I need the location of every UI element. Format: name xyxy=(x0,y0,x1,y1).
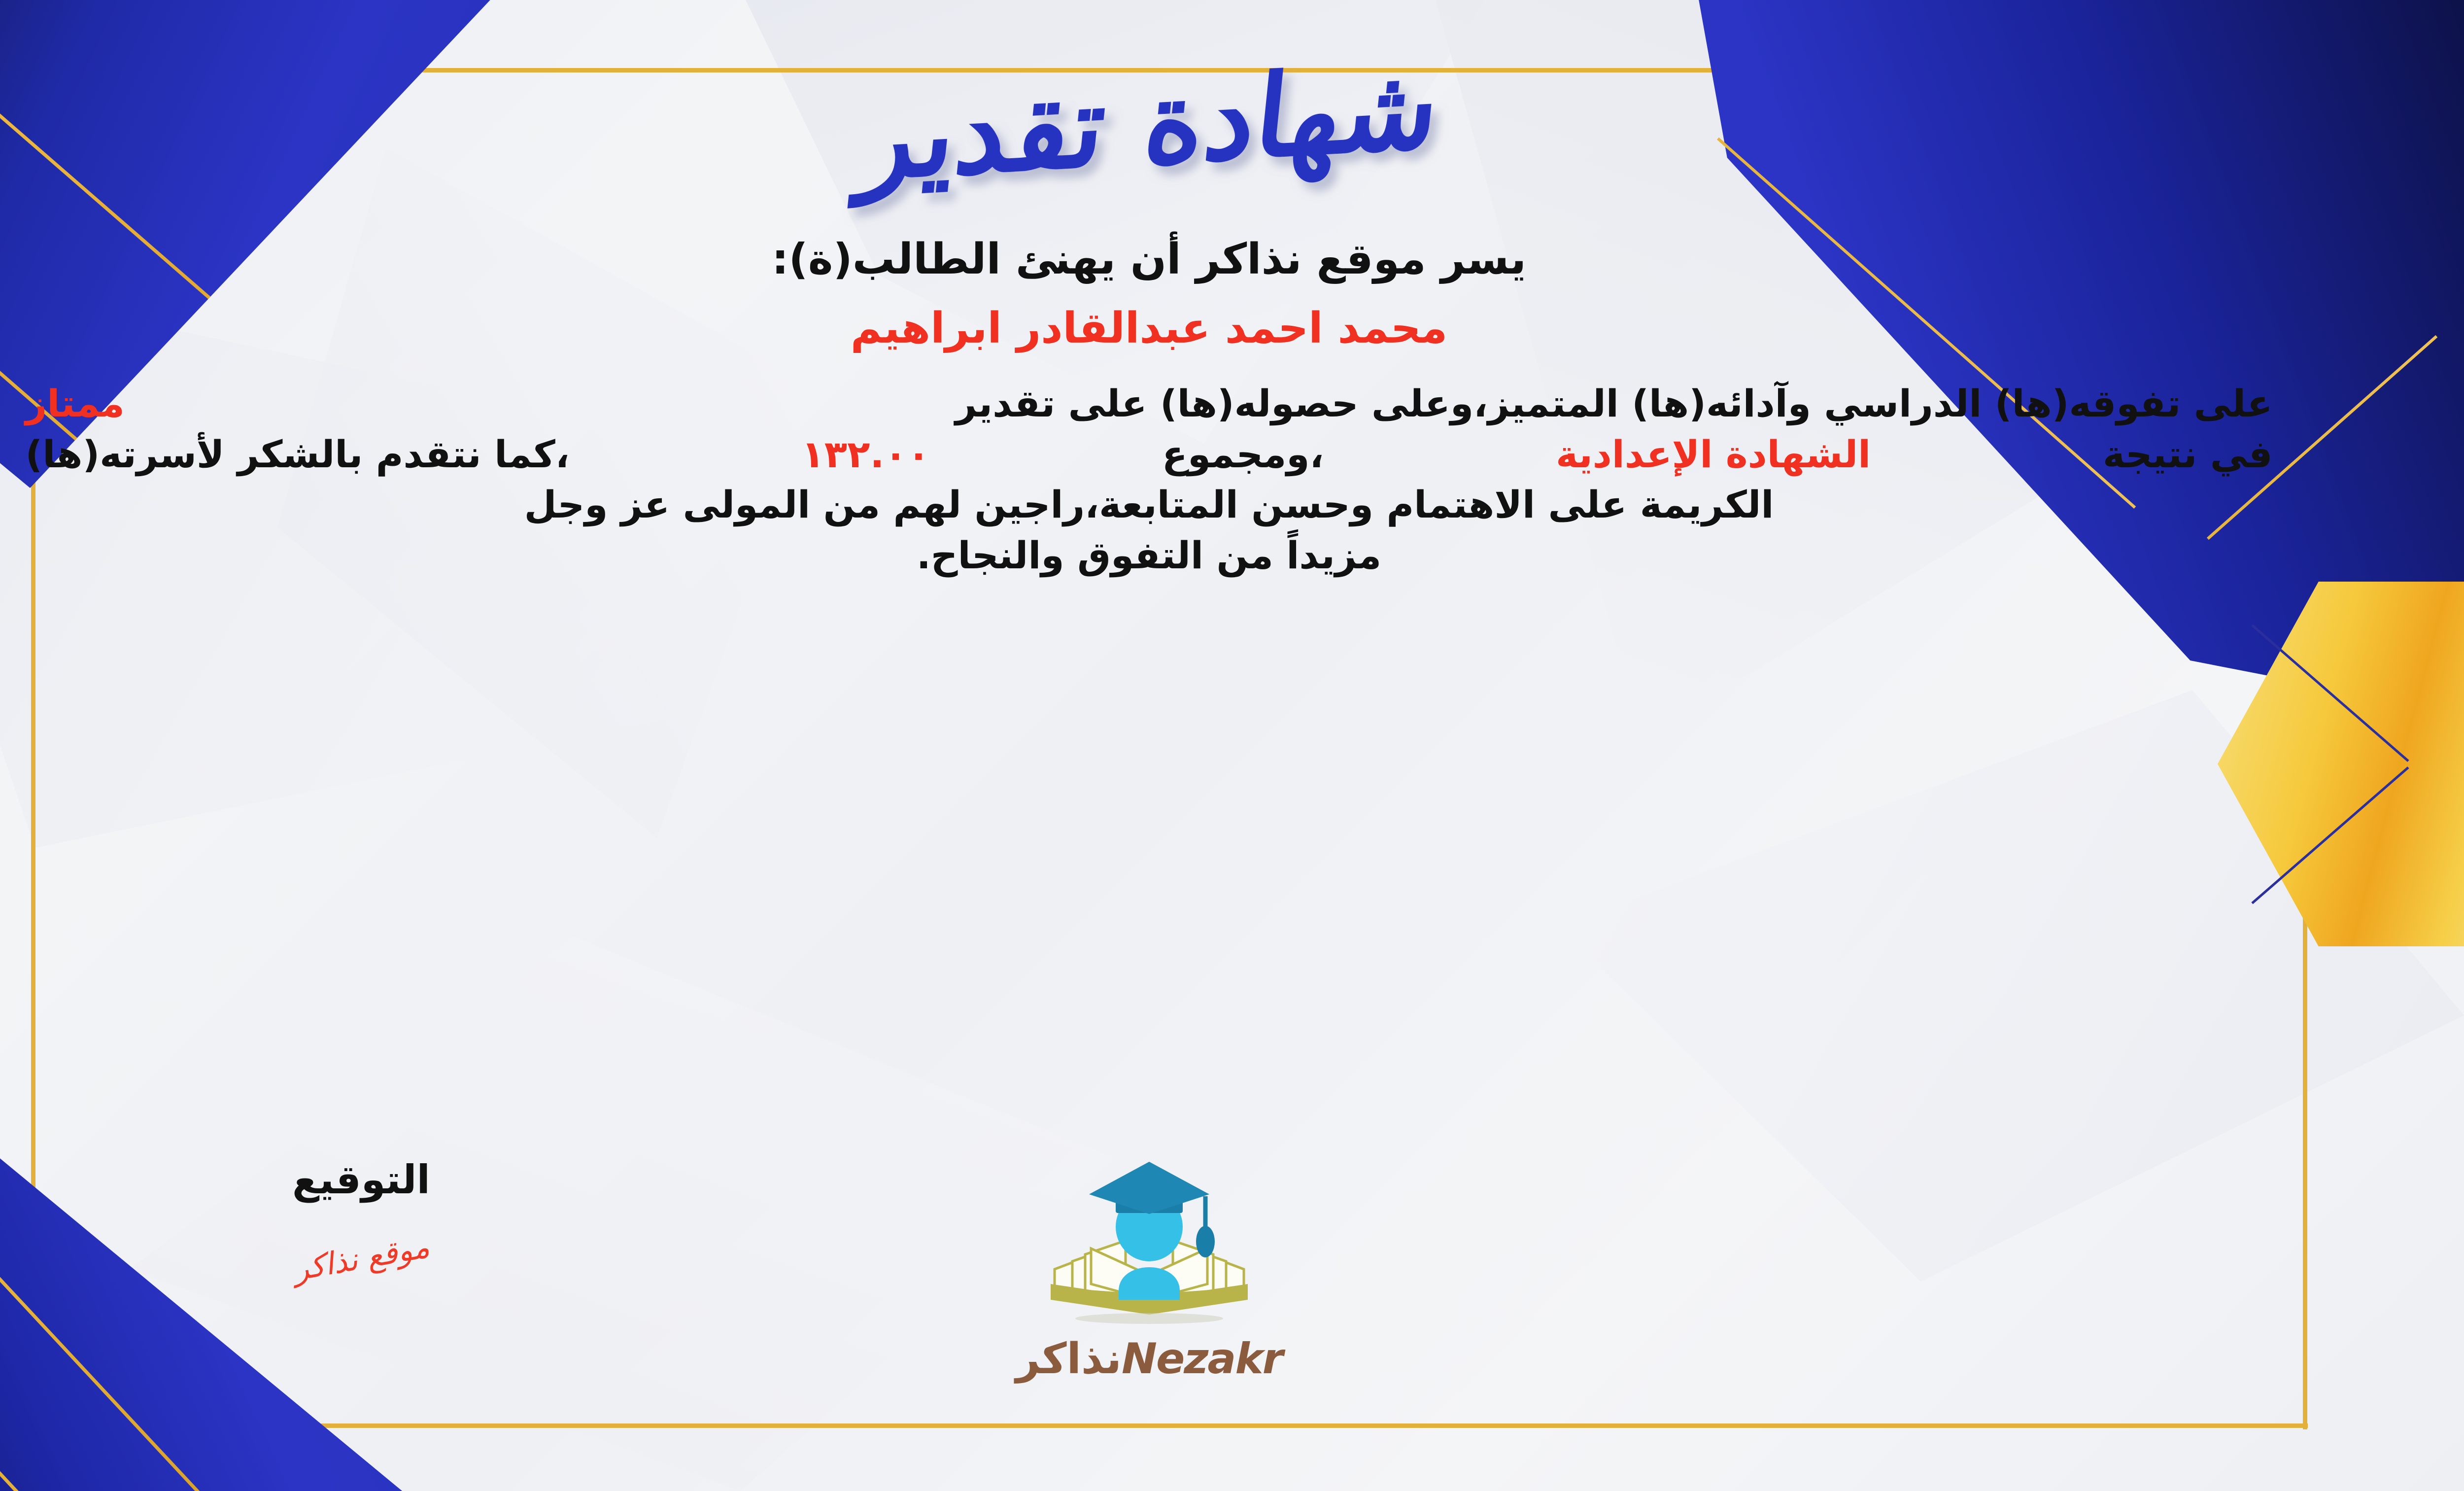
mortarboard-top xyxy=(1089,1162,1209,1214)
exam-name: الشهادة الإعدادية xyxy=(1556,429,1871,480)
total-score: ١٣٢.٠٠ xyxy=(801,429,930,480)
greeting-line: يسر موقع نذاكر أن يهنئ الطالب(ة): xyxy=(772,235,1526,284)
body-line-3: الكريمة على الاهتمام وحسن المتابعة،راجين… xyxy=(26,480,2273,530)
brand-arabic: نذاكر xyxy=(1016,1334,1122,1384)
certificate-title: شهادة تقدير xyxy=(558,55,1741,203)
body-line-2-suffix: ،كما نتقدم بالشكر لأسرته(ها) xyxy=(26,429,570,480)
body-line-3-text: الكريمة على الاهتمام وحسن المتابعة،راجين… xyxy=(524,480,1774,530)
grade-value: ممتاز xyxy=(26,379,125,429)
body-line-1-text: على تفوقه(ها) الدراسي وآدائه(ها) المتميز… xyxy=(955,379,2272,429)
brand-latin: Nezakr xyxy=(1122,1334,1282,1384)
certificate-canvas: شهادة تقدير يسر موقع نذاكر أن يهنئ الطال… xyxy=(0,0,2464,1491)
book-shadow xyxy=(1075,1313,1223,1324)
signature-label: التوقيع xyxy=(208,1157,514,1203)
student-name: محمد احمد عبدالقادر ابراهيم xyxy=(851,304,1447,353)
body-line-4-text: مزيداً من التفوق والنجاح. xyxy=(917,530,1381,581)
graduate-book-logo-icon xyxy=(1036,1152,1263,1339)
certificate-footer: التوقيع موقع نذاكر xyxy=(0,1157,2464,1433)
tassel-knot xyxy=(1196,1226,1215,1257)
title-text: شهادة تقدير xyxy=(847,40,1445,209)
body-line-1: على تفوقه(ها) الدراسي وآدائه(ها) المتميز… xyxy=(26,379,2273,429)
body-line-2-mid: ،ومجموع xyxy=(1162,429,1324,480)
signature-mark: موقع نذاكر xyxy=(291,1228,432,1287)
body-line-2-prefix: في نتيجة xyxy=(2103,429,2273,480)
brand-logo: Nezakrنذاكر xyxy=(962,1152,1336,1384)
title-calligraphy: شهادة تقدير xyxy=(627,55,1672,203)
certificate-body: على تفوقه(ها) الدراسي وآدائه(ها) المتميز… xyxy=(26,379,2273,581)
body-line-2: في نتيجة الشهادة الإعدادية ،ومجموع ١٣٢.٠… xyxy=(26,429,2273,480)
brand-wordmark: Nezakrنذاكر xyxy=(962,1334,1336,1384)
body-line-4: مزيداً من التفوق والنجاح. xyxy=(26,530,2273,581)
signature-block: التوقيع موقع نذاكر xyxy=(208,1157,514,1276)
